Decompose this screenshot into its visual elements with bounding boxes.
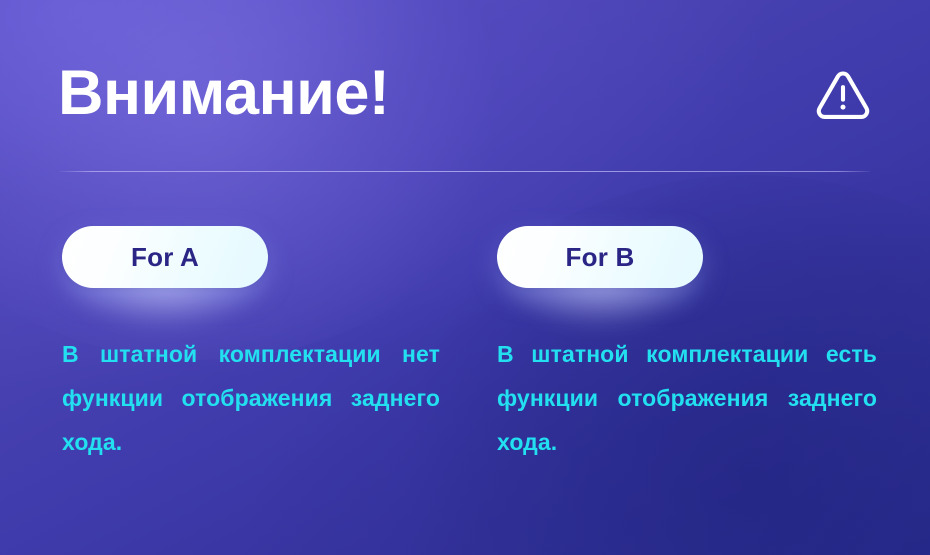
for-a-description: В штатной комплектации нет функции отобр… — [62, 288, 440, 464]
slide-content: Внимание! For A В штатной комплектации н… — [0, 0, 930, 555]
for-a-button[interactable]: For A — [62, 226, 268, 288]
for-a-button-label: For A — [131, 242, 199, 273]
warning-slide: Внимание! For A В штатной комплектации н… — [0, 0, 930, 555]
pill-wrapper-b: For B — [497, 226, 897, 288]
for-b-button[interactable]: For B — [497, 226, 703, 288]
for-b-button-label: For B — [566, 242, 635, 273]
for-b-description: В штатной комплектации есть функции отоб… — [497, 288, 877, 464]
column-for-b: For B В штатной комплектации есть функци… — [497, 226, 897, 464]
column-for-a: For A В штатной комплектации нет функции… — [62, 226, 462, 464]
pill-wrapper-a: For A — [62, 226, 462, 288]
comparison-columns: For A В штатной комплектации нет функции… — [0, 0, 930, 555]
